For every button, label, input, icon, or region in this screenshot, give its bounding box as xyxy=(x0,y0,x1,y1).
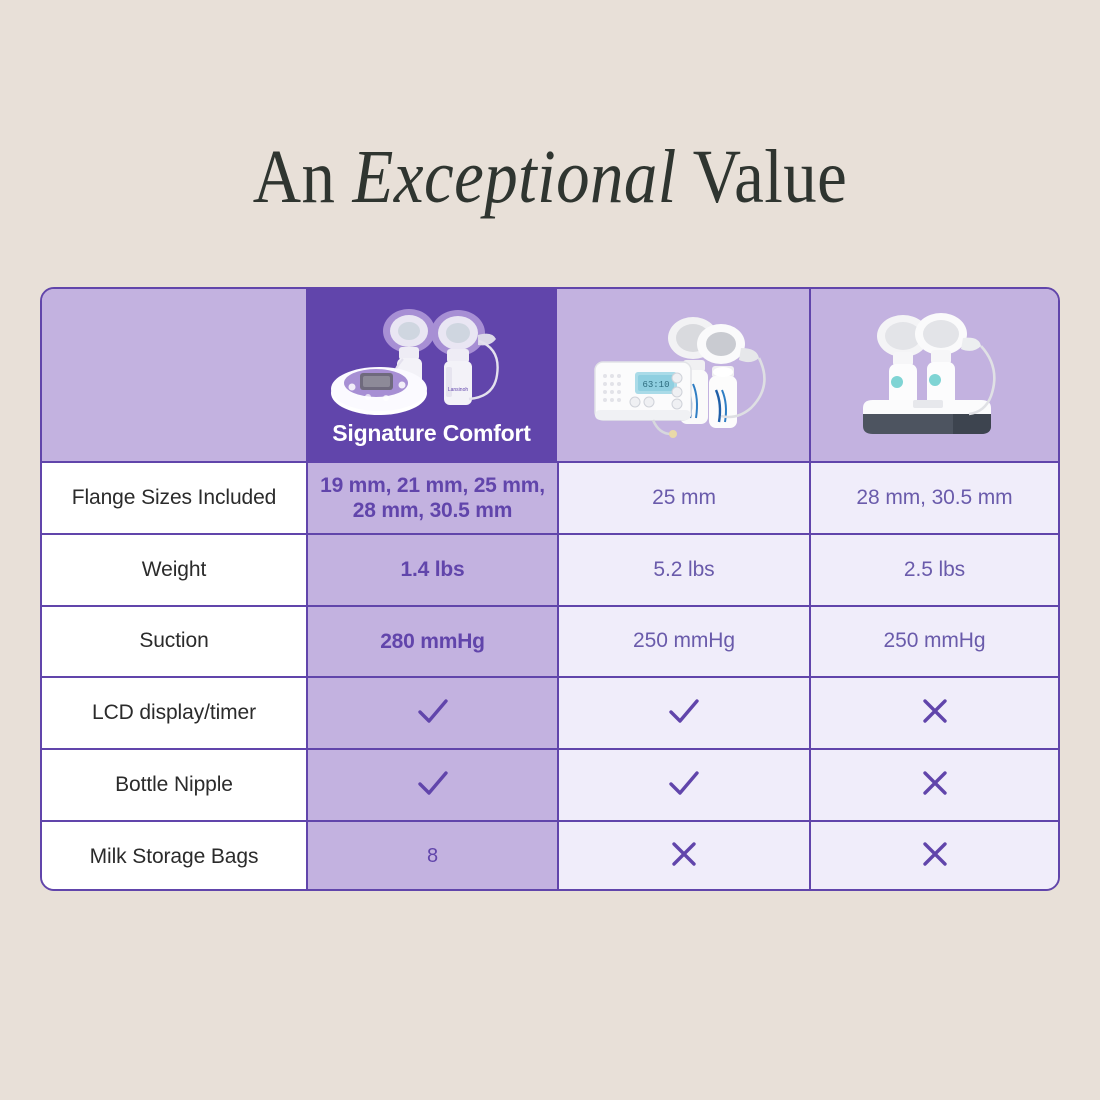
feature-label-cell: LCD display/timer xyxy=(42,676,306,748)
table-row: Bottle Nipple xyxy=(42,748,1058,820)
value-cell-competitor-1: 250 mmHg xyxy=(557,605,809,677)
column-label-signature-comfort: Signature Comfort xyxy=(332,419,531,447)
breast-pump-signature-comfort-image: Lansinoh xyxy=(306,307,557,419)
check-icon xyxy=(663,762,705,809)
value-cell-competitor-2 xyxy=(809,676,1058,748)
feature-label-cell: Suction xyxy=(42,605,306,677)
svg-text:63:10: 63:10 xyxy=(642,380,669,390)
check-icon xyxy=(412,690,454,737)
value-cell-competitor-1 xyxy=(557,748,809,820)
feature-label: Bottle Nipple xyxy=(107,772,241,798)
page-title-suffix: Value xyxy=(677,135,847,219)
check-icon xyxy=(412,762,454,809)
feature-label: Weight xyxy=(134,557,214,583)
value-cell-competitor-2 xyxy=(809,748,1058,820)
value-text: 280 mmHg xyxy=(372,629,493,654)
feature-label: Suction xyxy=(131,628,216,654)
table-row: Suction 280 mmHg 250 mmHg 250 mmHg xyxy=(42,605,1058,677)
value-cell-signature-comfort xyxy=(306,748,557,820)
cross-icon xyxy=(916,764,954,807)
value-cell-signature-comfort: 1.4 lbs xyxy=(306,533,557,605)
feature-label: Milk Storage Bags xyxy=(82,844,267,870)
breast-pump-competitor-1-image: 63:10 xyxy=(557,289,809,461)
value-text: 2.5 lbs xyxy=(896,557,973,583)
value-cell-competitor-1: 5.2 lbs xyxy=(557,533,809,605)
value-cell-competitor-2 xyxy=(809,820,1058,891)
value-cell-signature-comfort: 8 xyxy=(306,820,557,891)
table-row: Weight 1.4 lbs 5.2 lbs 2.5 lbs xyxy=(42,533,1058,605)
feature-label-cell: Flange Sizes Included xyxy=(42,461,306,533)
value-cell-signature-comfort: 19 mm, 21 mm, 25 mm, 28 mm, 30.5 mm xyxy=(306,461,557,533)
cross-icon xyxy=(916,835,954,878)
header-cell-competitor-2[interactable] xyxy=(809,289,1058,461)
comparison-infographic: An Exceptional Value xyxy=(0,0,1100,1100)
table-row: LCD display/timer xyxy=(42,676,1058,748)
breast-pump-competitor-2-image xyxy=(811,289,1058,461)
value-text: 1.4 lbs xyxy=(393,557,473,582)
value-cell-competitor-1 xyxy=(557,676,809,748)
value-text: 25 mm xyxy=(644,485,724,511)
header-cell-competitor-1[interactable]: 63:10 xyxy=(557,289,809,461)
feature-label: Flange Sizes Included xyxy=(64,485,285,511)
comparison-table: Lansinoh xyxy=(40,287,1060,891)
value-cell-competitor-2: 2.5 lbs xyxy=(809,533,1058,605)
value-text: 5.2 lbs xyxy=(645,557,722,583)
value-cell-competitor-2: 28 mm, 30.5 mm xyxy=(809,461,1058,533)
value-cell-signature-comfort xyxy=(306,676,557,748)
cross-icon xyxy=(665,835,703,878)
feature-label-cell: Milk Storage Bags xyxy=(42,820,306,891)
table-header-row: Lansinoh xyxy=(42,289,1058,461)
page-title-prefix: An xyxy=(253,135,353,219)
page-title-container: An Exceptional Value xyxy=(0,131,1100,223)
feature-label-cell: Weight xyxy=(42,533,306,605)
value-text: 8 xyxy=(419,844,446,869)
value-cell-competitor-2: 250 mmHg xyxy=(809,605,1058,677)
value-text: 28 mm, 30.5 mm xyxy=(848,485,1020,511)
value-text: 250 mmHg xyxy=(625,628,743,654)
value-cell-competitor-1 xyxy=(557,820,809,891)
value-cell-competitor-1: 25 mm xyxy=(557,461,809,533)
feature-label-cell: Bottle Nipple xyxy=(42,748,306,820)
value-cell-signature-comfort: 280 mmHg xyxy=(306,605,557,677)
table-row: Milk Storage Bags 8 xyxy=(42,820,1058,891)
value-text: 250 mmHg xyxy=(876,628,994,654)
feature-label: LCD display/timer xyxy=(84,700,264,726)
table-row: Flange Sizes Included 19 mm, 21 mm, 25 m… xyxy=(42,461,1058,533)
page-title: An Exceptional Value xyxy=(66,131,1034,223)
cross-icon xyxy=(916,692,954,735)
page-title-emphasis: Exceptional xyxy=(353,135,677,219)
header-cell-signature-comfort[interactable]: Lansinoh xyxy=(306,289,557,461)
value-text: 19 mm, 21 mm, 25 mm, 28 mm, 30.5 mm xyxy=(308,473,557,523)
header-cell-feature xyxy=(42,289,306,461)
check-icon xyxy=(663,690,705,737)
svg-text:Lansinoh: Lansinoh xyxy=(448,387,469,393)
